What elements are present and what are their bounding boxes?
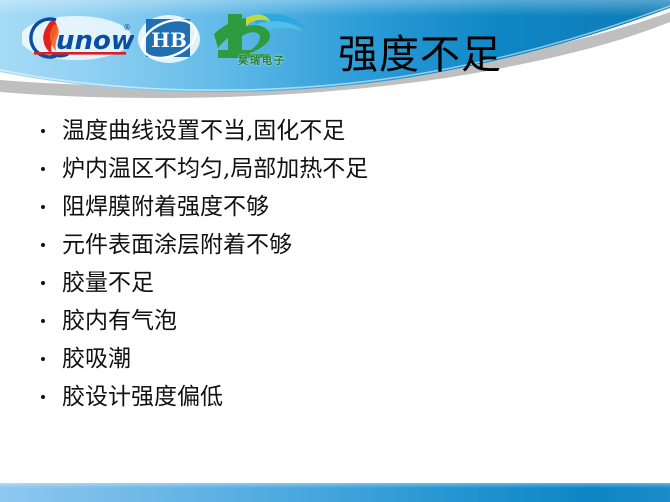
list-item-label: 胶设计强度偏低 xyxy=(62,384,223,410)
bullet-dot-icon xyxy=(41,357,45,361)
svg-text:HB: HB xyxy=(151,28,187,52)
logo-group: unow ® HB xyxy=(0,0,330,80)
bullet-dot-icon xyxy=(41,129,45,133)
list-item: 胶吸潮 xyxy=(0,340,670,378)
list-item: 胶量不足 xyxy=(0,264,670,302)
list-item: 炉内温区不均匀,局部加热不足 xyxy=(0,150,670,188)
slide-header-banner: unow ® HB xyxy=(0,0,670,112)
bullet-dot-icon xyxy=(41,281,45,285)
bullet-dot-icon xyxy=(41,319,45,323)
list-item-label: 胶内有气泡 xyxy=(62,308,177,334)
svg-text:®: ® xyxy=(123,23,131,32)
bullet-dot-icon xyxy=(41,395,45,399)
list-item: 温度曲线设置不当,固化不足 xyxy=(0,112,670,150)
bullet-list: 温度曲线设置不当,固化不足 炉内温区不均匀,局部加热不足 阻焊膜附着强度不够 元… xyxy=(0,112,670,416)
list-item: 阻焊膜附着强度不够 xyxy=(0,188,670,226)
presentation-slide: unow ® HB xyxy=(0,0,670,502)
list-item: 元件表面涂层附着不够 xyxy=(0,226,670,264)
bullet-dot-icon xyxy=(41,167,45,171)
list-item: 胶设计强度偏低 xyxy=(0,378,670,416)
sunow-logo: unow ® xyxy=(22,14,134,62)
list-item-label: 温度曲线设置不当,固化不足 xyxy=(62,118,345,144)
bullet-dot-icon xyxy=(41,243,45,247)
list-item-label: 炉内温区不均匀,局部加热不足 xyxy=(62,156,368,182)
list-item-label: 胶量不足 xyxy=(62,270,154,296)
haorui-logo-caption: 昊瑞电子 xyxy=(212,52,312,67)
slide-title: 强度不足 xyxy=(338,32,502,78)
list-item-label: 元件表面涂层附着不够 xyxy=(62,232,292,258)
bullet-dot-icon xyxy=(41,205,45,209)
list-item: 胶内有气泡 xyxy=(0,302,670,340)
list-item-label: 胶吸潮 xyxy=(62,346,131,372)
list-item-label: 阻焊膜附着强度不够 xyxy=(62,194,269,220)
footer-bar-sheen xyxy=(0,483,670,488)
slide-footer-bar xyxy=(0,483,670,502)
slide-body: 温度曲线设置不当,固化不足 炉内温区不均匀,局部加热不足 阻焊膜附着强度不够 元… xyxy=(0,112,670,472)
hb-logo: HB xyxy=(138,14,200,64)
